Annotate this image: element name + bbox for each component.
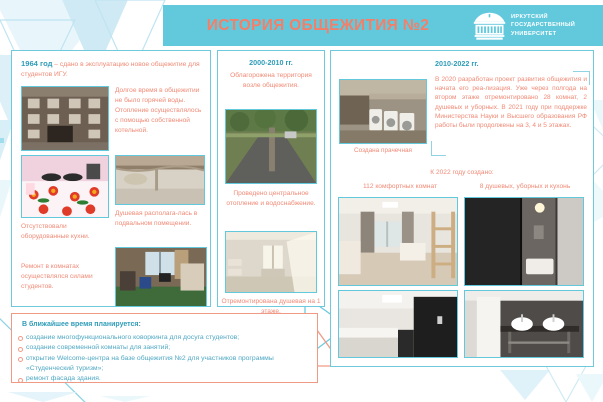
laundry-caption: Создана прачечная: [335, 147, 431, 154]
university-logo: ИРКУТСКИЙ ГОСУДАРСТВЕННЫЙ УНИВЕРСИТЕТ: [473, 8, 601, 43]
col3-title: 2010-2022 гг.: [435, 59, 479, 68]
col1-side-text: Долгое время в общежитии не было горячей…: [115, 86, 205, 136]
col2-text-2: Проведено центральное отопление и водосн…: [222, 189, 320, 209]
list-item: создание современной комнаты для занятий…: [17, 343, 313, 353]
panel-history-2010-2022: Создана прачечная 2010-2022 гг. В 2020 р…: [330, 50, 594, 367]
student-room-photo: [115, 247, 207, 307]
comfortable-room-photo: [338, 197, 458, 286]
old-dormitory-facade-photo: [21, 86, 109, 151]
col1-caption-right: Душевая располага-лась в подвальном поме…: [115, 209, 207, 229]
laundry-room-photo: [339, 79, 427, 144]
logo-line-3: УНИВЕРСИТЕТ: [511, 31, 556, 37]
col3-stat-facilities: 8 душевых, уборных и кухонь: [463, 183, 587, 190]
list-item: открытие Welcome-центра на базе общежити…: [17, 354, 313, 375]
col1-caption-left: Отсутствовали оборудованные кухни.: [21, 222, 111, 242]
col1-year: 1964 год: [21, 59, 52, 68]
col3-body-text: В 2020 разработан проект развития общежи…: [435, 75, 587, 130]
corridor-photo: [338, 290, 458, 358]
page-title: ИСТОРИЯ ОБЩЕЖИТИЯ №2: [163, 5, 473, 46]
panel-history-1964: 1964 год – сдано в эксплуатацию новое об…: [11, 50, 211, 307]
col2-title: 2000-2010 гг.: [218, 58, 324, 67]
old-kitchen-photo: [21, 155, 109, 218]
panel-future-plans: В ближайшее время планируется: создание …: [11, 313, 318, 383]
logo-line-2: ГОСУДАРСТВЕННЫЙ: [511, 22, 575, 28]
col1-caption-bottom: Ремонт в комнатах осуществлялся силами с…: [21, 262, 113, 292]
university-logo-text: ИРКУТСКИЙ ГОСУДАРСТВЕННЫЙ УНИВЕРСИТЕТ: [511, 13, 575, 37]
col3-stat-rooms: 112 комфортных комнат: [341, 183, 459, 190]
paved-path-photo: [225, 109, 317, 184]
renovated-shower-room-photo: [225, 231, 317, 293]
col2-text-1: Облагорожена территория возле общежития.: [224, 71, 318, 91]
poster-canvas: ИСТОРИЯ ОБЩЕЖИТИЯ №2: [0, 0, 603, 402]
col3-bracket-bottom-left: [431, 141, 446, 156]
list-item: ремонт фасада здания.: [17, 374, 313, 384]
list-item: создание многофункционального коворкинга…: [17, 333, 313, 343]
col1-lead: 1964 год – сдано в эксплуатацию новое об…: [21, 58, 203, 79]
plans-title: В ближайшее время планируется:: [22, 321, 141, 328]
plans-list: создание многофункционального коворкинга…: [17, 333, 313, 385]
modern-shower-photo: [464, 197, 584, 286]
basement-shower-photo: [115, 155, 205, 205]
university-building-icon: [473, 11, 506, 41]
washbasins-photo: [464, 290, 584, 358]
logo-line-1: ИРКУТСКИЙ: [511, 14, 548, 20]
panel-history-2000-2010: 2000-2010 гг. Облагорожена территория во…: [217, 50, 325, 307]
header-band: ИСТОРИЯ ОБЩЕЖИТИЯ №2: [163, 5, 603, 46]
col3-subtitle: К 2022 году создано:: [331, 169, 593, 176]
